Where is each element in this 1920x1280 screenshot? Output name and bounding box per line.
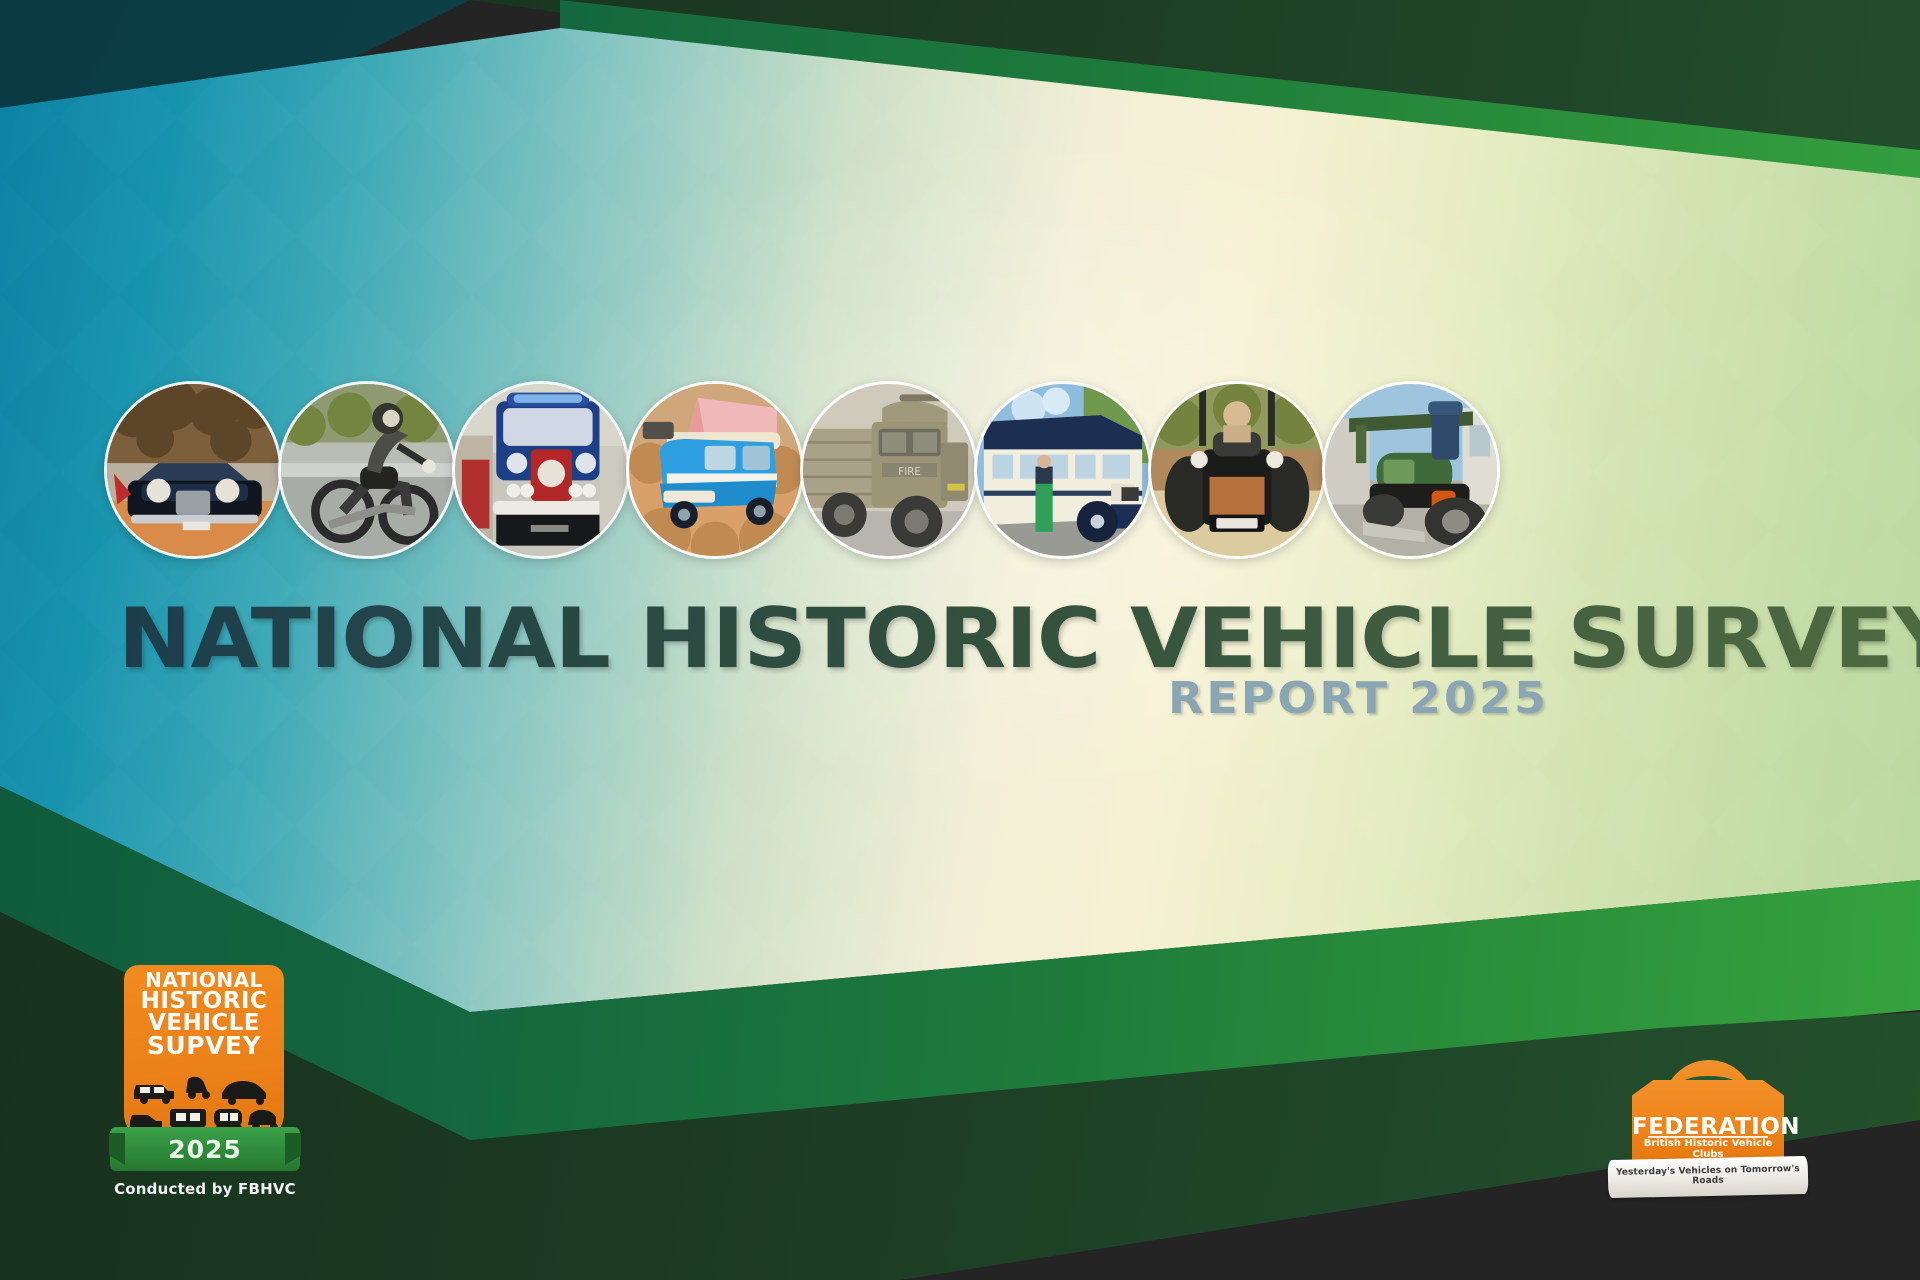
vehicle-circle-steam-traction-engine <box>1322 381 1500 559</box>
vintage-bus-icon <box>977 384 1149 556</box>
survey-badge: NATIONAL HISTORIC VEHICLE SUPVEY 2025 <box>110 965 300 1210</box>
vehicle-circle-vintage-motorcycle <box>278 381 456 559</box>
classic-car-icon <box>107 384 279 556</box>
motorcycle-icon <box>281 384 453 556</box>
vehicle-circle-vintage-fire-engine <box>452 381 630 559</box>
poster-canvas: FIRE <box>0 0 1920 1280</box>
conducted-by-label: Conducted by FBHVC <box>100 1180 310 1198</box>
vehicle-circle-vintage-tractor <box>1148 381 1326 559</box>
vehicle-circle-strip: FIRE <box>104 381 1494 557</box>
vehicle-circle-vintage-coach <box>974 381 1152 559</box>
badge-line-4: SUPVEY <box>124 1034 284 1058</box>
fbhvc-logo: FEDERATION British Historic Vehicle Club… <box>1608 1062 1808 1212</box>
svg-text:FIRE: FIRE <box>898 466 921 478</box>
vehicle-circle-military-truck: FIRE <box>800 381 978 559</box>
badge-vehicle-silhouettes-icon <box>130 1069 280 1131</box>
vehicle-circle-camper-van <box>626 381 804 559</box>
vehicle-circle-classic-sports-car <box>104 381 282 559</box>
fire-engine-icon <box>455 384 627 556</box>
tractor-icon <box>1151 384 1323 556</box>
traction-engine-icon <box>1325 384 1497 556</box>
camper-van-icon <box>629 384 801 556</box>
page-title: NATIONAL HISTORIC VEHICLE SURVEY <box>118 597 1920 680</box>
fbhvc-ribbon-label: Yesterday's Vehicles on Tomorrow's Roads <box>1608 1164 1808 1188</box>
military-truck-icon: FIRE <box>803 384 975 556</box>
badge-year: 2025 <box>110 1135 300 1164</box>
badge-wordmark: NATIONAL HISTORIC VEHICLE SUPVEY <box>124 971 284 1058</box>
badge-line-2: HISTORIC <box>124 990 284 1012</box>
page-subtitle: REPORT 2025 <box>1168 673 1896 724</box>
